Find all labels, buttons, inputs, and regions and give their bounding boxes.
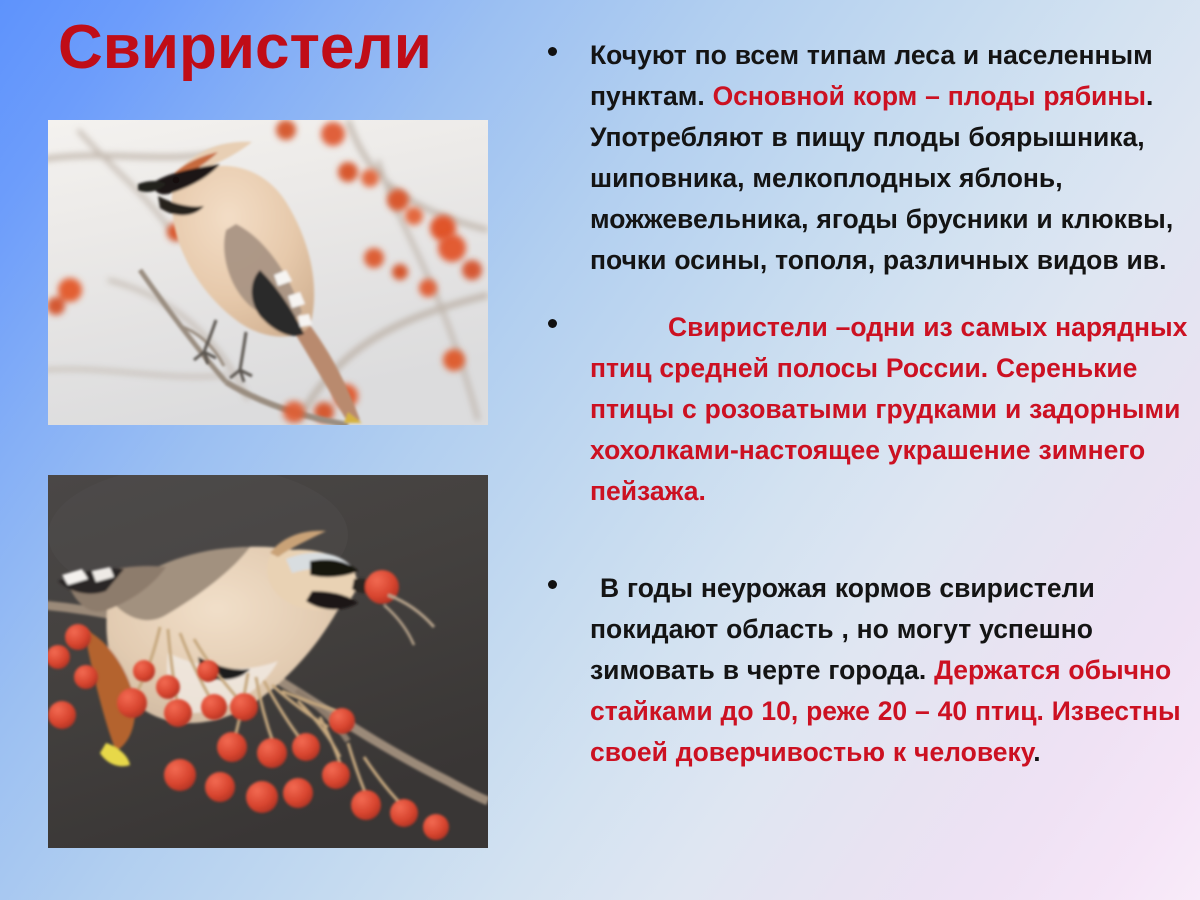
page-title: Свиристели bbox=[58, 8, 518, 88]
bullet-marker-icon bbox=[548, 47, 557, 56]
bullet-3-run-3: . bbox=[1033, 737, 1040, 767]
bullet-paragraph-3: В годы неурожая кормов свиристели покида… bbox=[590, 568, 1200, 773]
bullet-marker-icon bbox=[548, 319, 557, 328]
waxwing-eating-berry-photo bbox=[48, 475, 488, 848]
content-text-column: Кочуют по всем типам леса и населенным п… bbox=[536, 8, 1200, 888]
waxwing-on-branch-illustration bbox=[48, 120, 488, 425]
bullet-1-run-2: Основной корм – плоды рябины bbox=[713, 81, 1146, 111]
waxwing-on-branch-photo bbox=[48, 120, 488, 425]
bullet-paragraph-1: Кочуют по всем типам леса и населенным п… bbox=[590, 35, 1200, 281]
waxwing-eating-berry-illustration bbox=[48, 475, 488, 848]
slide-canvas: Свиристели bbox=[0, 0, 1200, 900]
bullet-item-3: В годы неурожая кормов свиристели покида… bbox=[536, 568, 1200, 773]
bullet-marker-icon bbox=[548, 580, 557, 589]
bullet-paragraph-2: Свиристели –одни из самых нарядных птиц … bbox=[590, 307, 1200, 512]
bullet-item-2: Свиристели –одни из самых нарядных птиц … bbox=[536, 307, 1200, 512]
bullet-2-run-1: Свиристели –одни из самых нарядных птиц … bbox=[590, 312, 1187, 506]
bullet-item-1: Кочуют по всем типам леса и населенным п… bbox=[536, 35, 1200, 281]
